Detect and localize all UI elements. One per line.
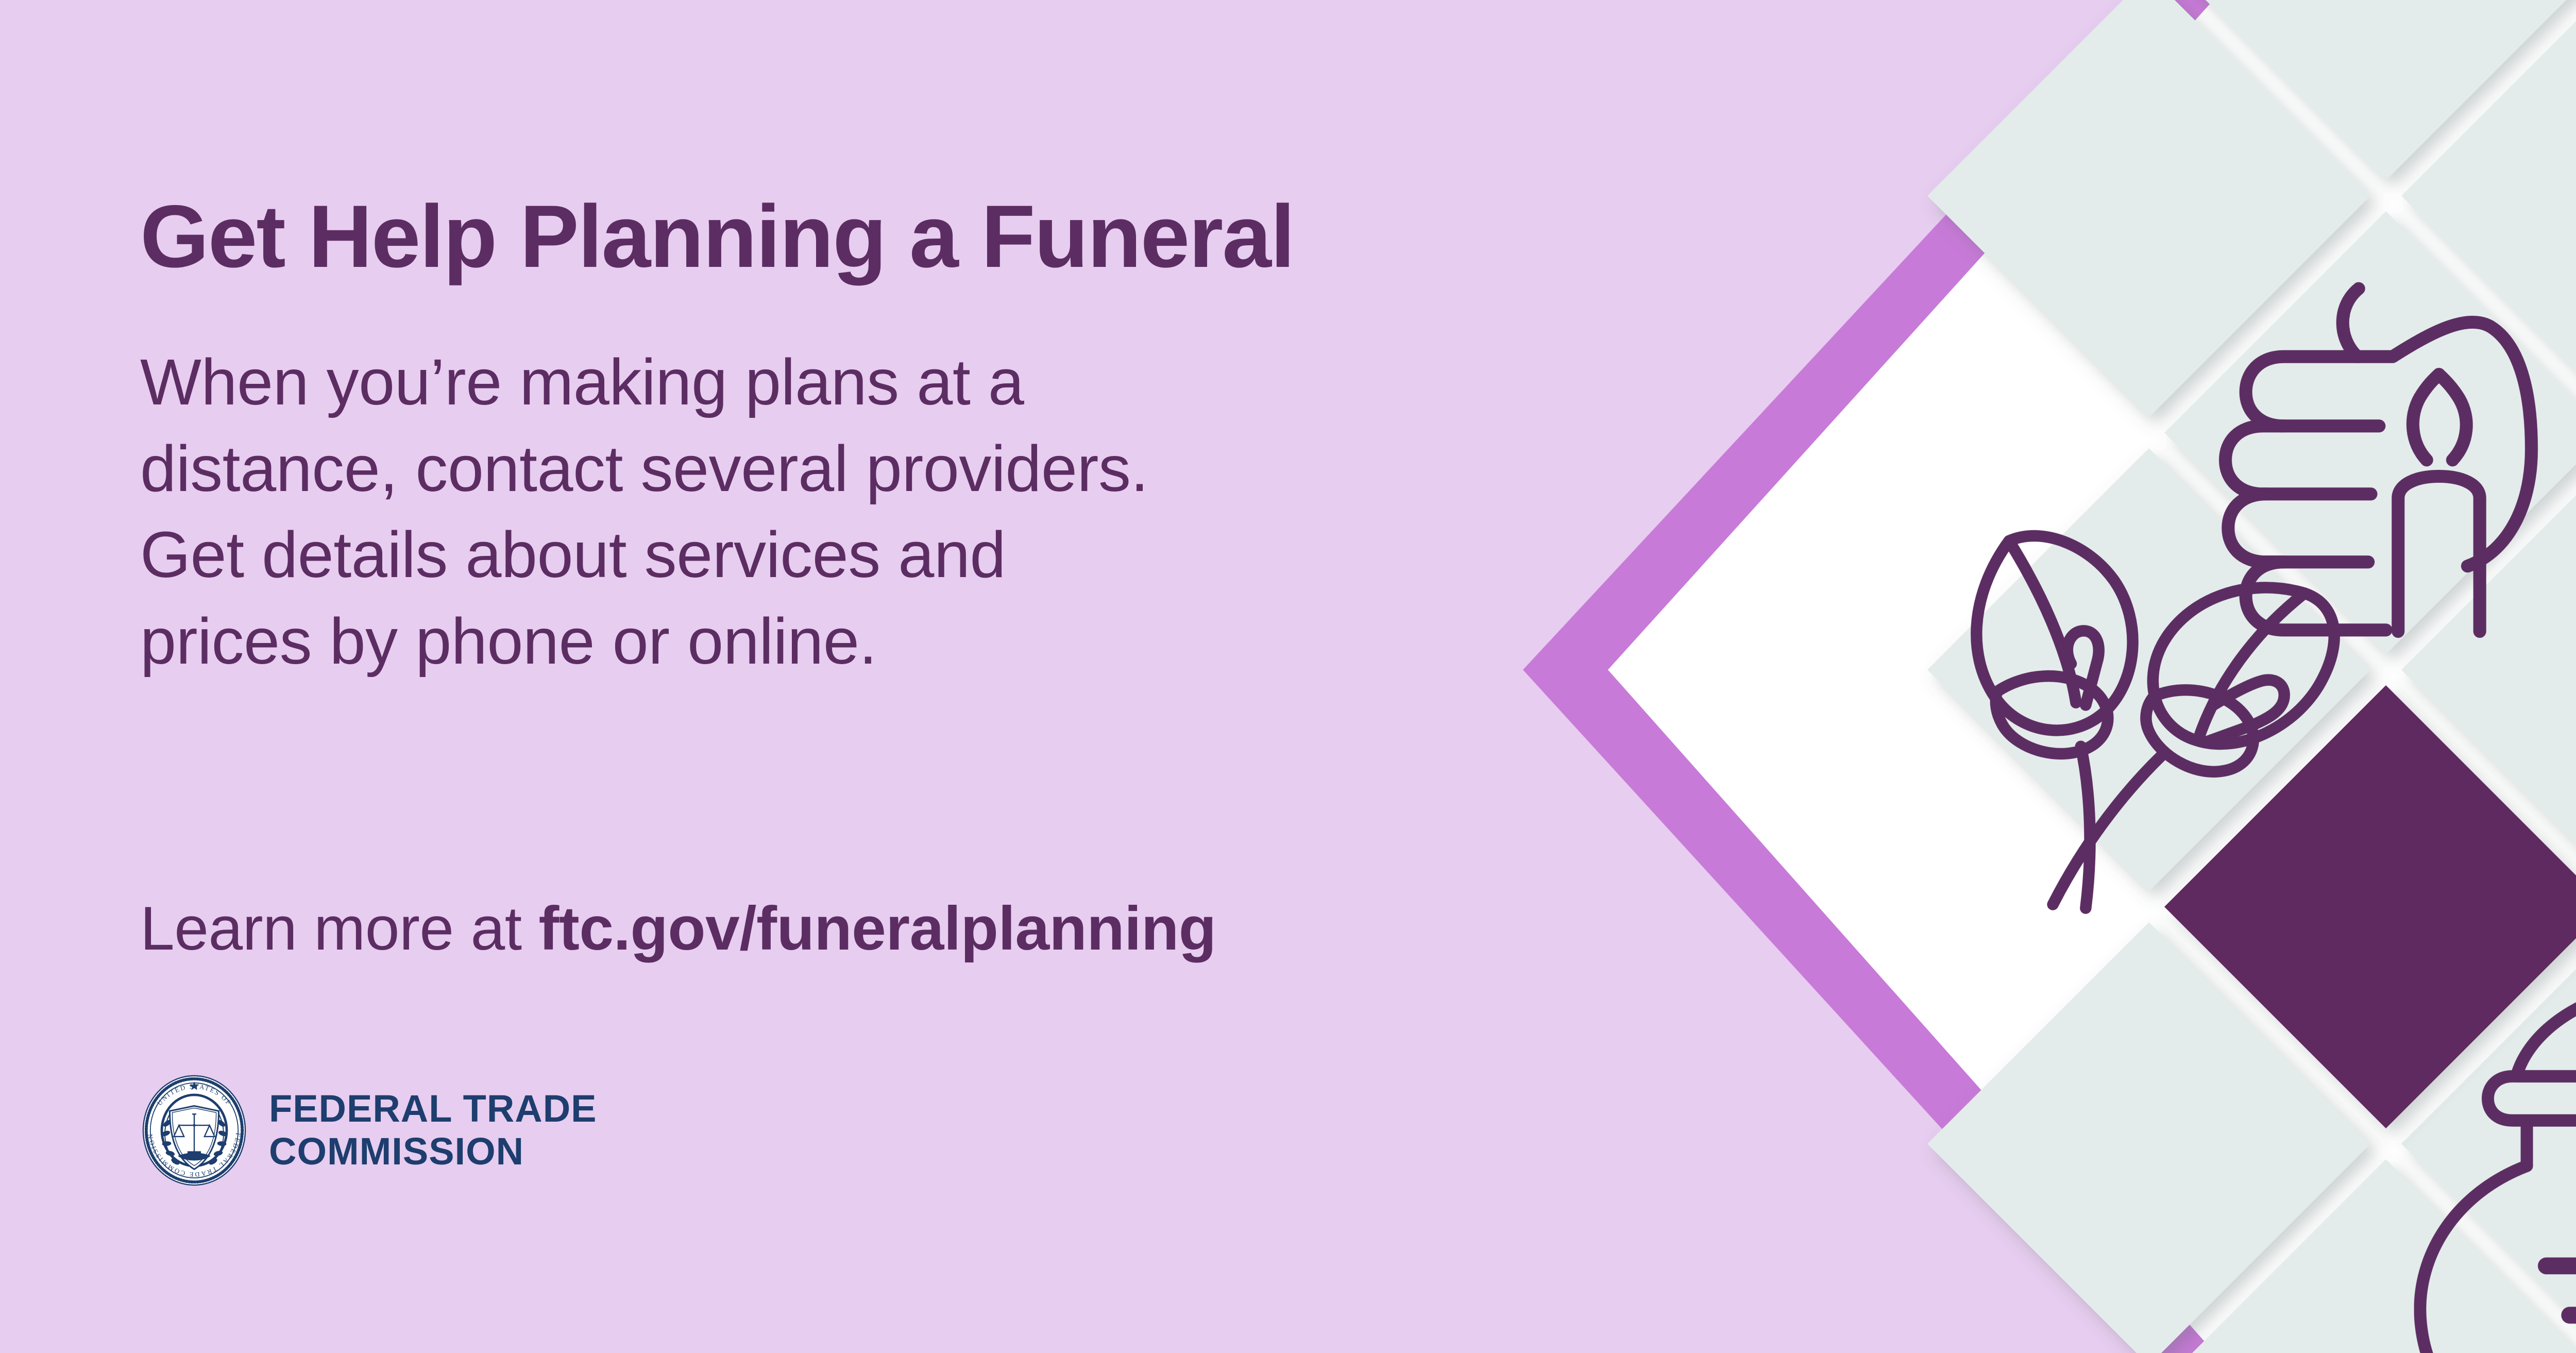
ftc-name-line-1: FEDERAL TRADE [269,1088,597,1130]
ftc-seal-icon: UNITED STATES OF FEDERAL TRADE COMMISSIO… [138,1074,250,1187]
body-line: distance, contact several providers. [140,426,1148,512]
body-line: Get details about services and [140,512,1148,598]
cta-prefix: Learn more at [140,894,538,963]
ftc-funeral-planning-banner: Get Help Planning a Funeral When you’re … [0,0,2576,1353]
call-to-action: Learn more at ftc.gov/funeralplanning [140,893,1216,964]
decorative-diamond-graphic [1443,0,2576,1353]
ftc-wordmark: FEDERAL TRADE COMMISSION [269,1088,597,1173]
body-copy: When you’re making plans at a distance, … [140,339,1148,684]
text-column: Get Help Planning a Funeral When you’re … [0,0,1571,1353]
body-line: When you’re making plans at a [140,339,1148,426]
page-title: Get Help Planning a Funeral [140,192,1294,281]
ftc-logo-lockup: UNITED STATES OF FEDERAL TRADE COMMISSIO… [138,1074,597,1187]
cta-url-link[interactable]: ftc.gov/funeralplanning [538,894,1216,963]
body-line: prices by phone or online. [140,598,1148,685]
ftc-name-line-2: COMMISSION [269,1130,597,1173]
